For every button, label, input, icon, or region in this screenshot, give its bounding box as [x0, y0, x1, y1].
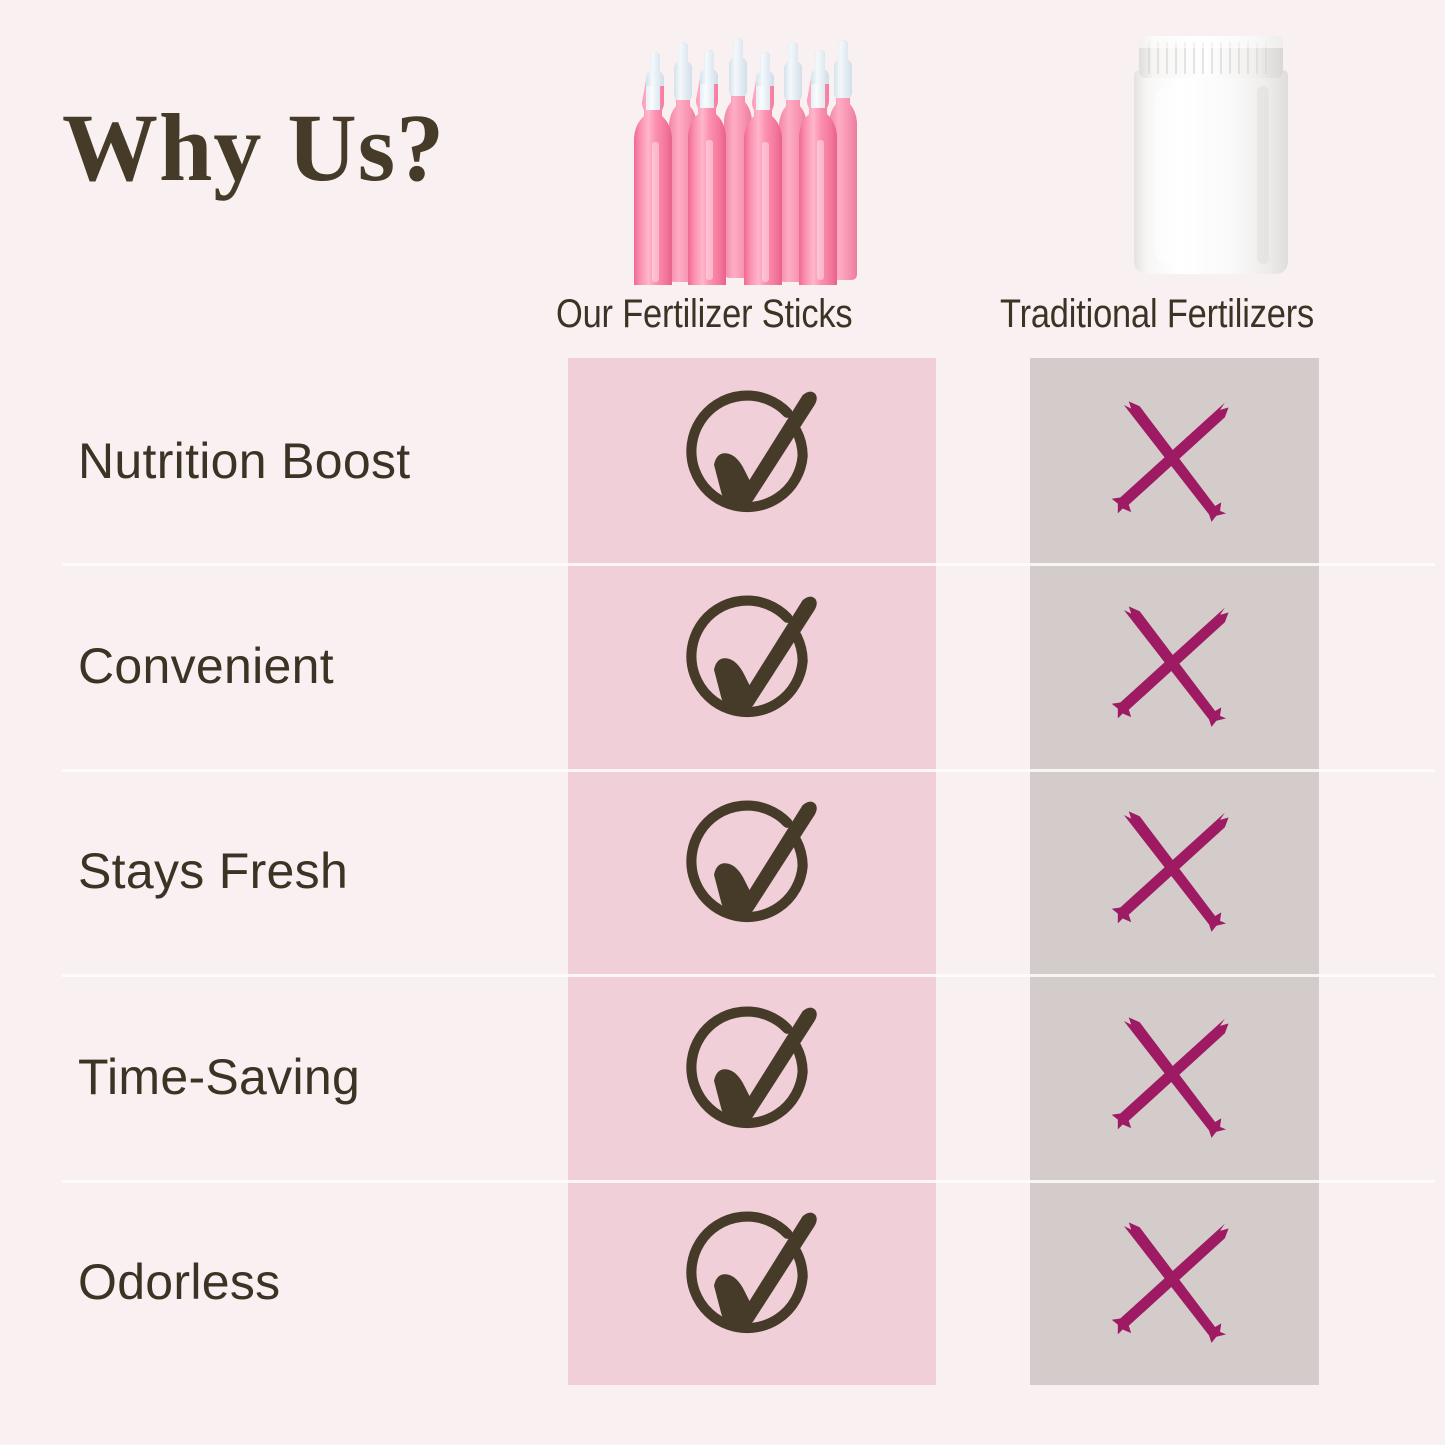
cross-icon: [1102, 1209, 1248, 1355]
check-icon: [676, 590, 828, 742]
cell-ours: [568, 358, 936, 563]
cell-ours: [568, 563, 936, 768]
cell-traditional: [1030, 563, 1319, 768]
cross-icon: [1102, 593, 1248, 739]
feature-label: Convenient: [78, 637, 334, 695]
column-header-our-fertilizer-sticks: Our Fertilizer Sticks: [556, 292, 852, 337]
table-row: Stays Fresh: [0, 769, 1445, 974]
fertilizer-sticks-image: [628, 30, 876, 285]
check-icon: [676, 795, 828, 947]
column-header-traditional-fertilizers: Traditional Fertilizers: [1000, 292, 1314, 337]
comparison-infographic: Why Us?: [0, 0, 1445, 1445]
cell-ours: [568, 769, 936, 974]
table-row: Odorless: [0, 1180, 1445, 1385]
feature-label: Odorless: [78, 1253, 280, 1311]
comparison-table: Nutrition Boost Convenient: [0, 358, 1445, 1385]
traditional-fertilizer-jar-image: [1125, 32, 1297, 284]
cell-traditional: [1030, 1180, 1319, 1385]
cross-icon: [1102, 1004, 1248, 1150]
feature-label: Time-Saving: [78, 1048, 360, 1106]
cell-traditional: [1030, 974, 1319, 1179]
cell-ours: [568, 974, 936, 1179]
feature-label: Stays Fresh: [78, 842, 348, 900]
table-row: Convenient: [0, 563, 1445, 768]
feature-label: Nutrition Boost: [78, 432, 410, 490]
check-icon: [676, 385, 828, 537]
cross-icon: [1102, 798, 1248, 944]
cell-traditional: [1030, 769, 1319, 974]
cross-icon: [1102, 388, 1248, 534]
check-icon: [676, 1001, 828, 1153]
cell-traditional: [1030, 358, 1319, 563]
check-icon: [676, 1206, 828, 1358]
cell-ours: [568, 1180, 936, 1385]
table-row: Nutrition Boost: [0, 358, 1445, 563]
table-row: Time-Saving: [0, 974, 1445, 1179]
page-title: Why Us?: [62, 100, 445, 196]
